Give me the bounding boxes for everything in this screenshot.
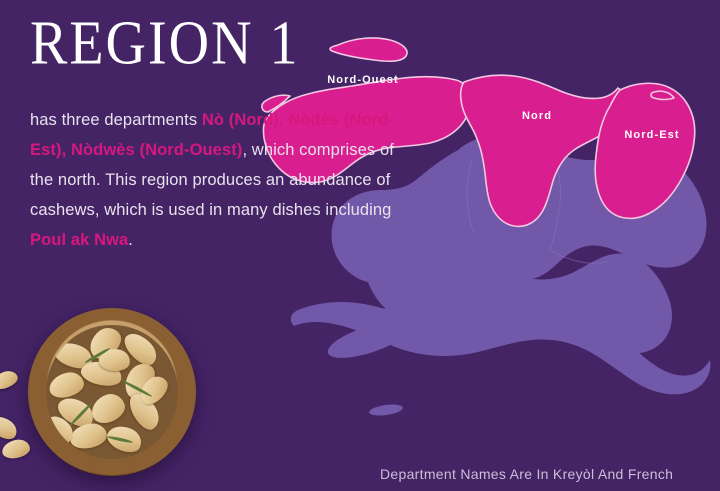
cashew-bowl-image [28, 308, 196, 476]
map-label-nord-ouest: Nord-Ouest [327, 74, 399, 86]
page-title: REGION 1 [30, 12, 300, 75]
map-label-nord-est: Nord-Est [624, 129, 679, 141]
footer-note: Department Names Are In Kreyòl And Frenc… [380, 466, 673, 482]
map-label-nord: Nord [522, 110, 552, 122]
body-segment-dish: Poul ak Nwa [30, 231, 128, 249]
stray-cashew-nut [1, 438, 31, 460]
body-segment-plain-1: has three departments [30, 111, 202, 129]
stray-cashew-nut [0, 368, 20, 391]
cashew-nut [87, 390, 128, 427]
body-paragraph: has three departments Nò (Nord), Nòdès (… [30, 105, 402, 255]
small-island-south [368, 403, 403, 418]
infographic-slide: Nord-Ouest Nord Nord-Est REGION 1 has th… [0, 0, 720, 491]
bowl-interior [46, 325, 177, 459]
body-segment-plain-3: . [128, 231, 133, 249]
tortuga-island [330, 38, 407, 61]
cashew-nut [69, 422, 109, 451]
